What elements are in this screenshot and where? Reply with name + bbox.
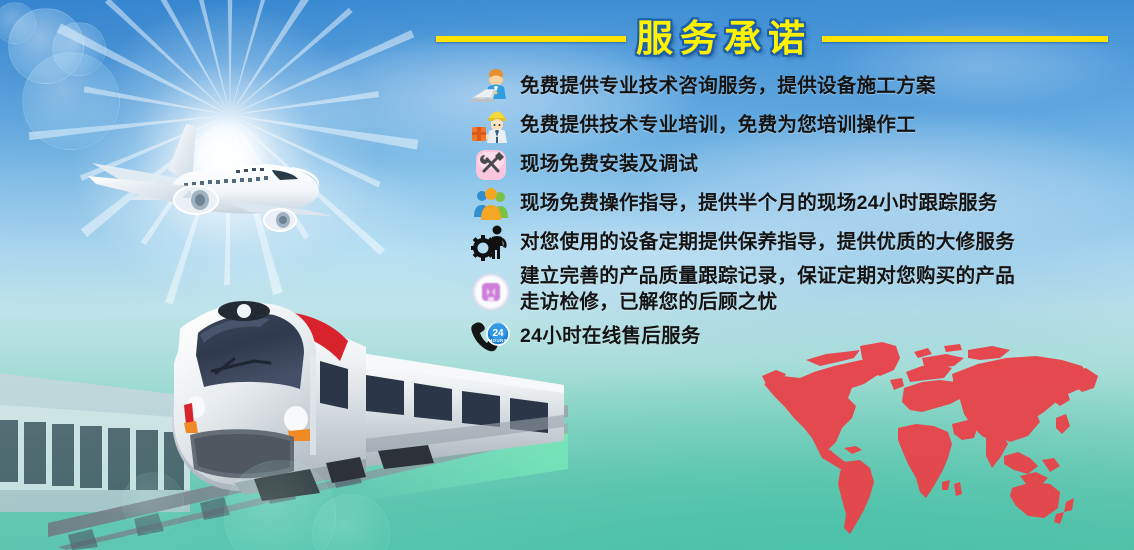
service-item: 免费提供技术专业培训，免费为您培训操作工 [470,107,1130,145]
service-item-text: 对您使用的设备定期提供保养指导，提供优质的大修服务 [520,224,1015,256]
title-row: 服务承诺 [436,14,1108,64]
service-item: 免费提供专业技术咨询服务，提供设备施工方案 [470,68,1130,106]
service-item-text: 免费提供技术专业培训，免费为您培训操作工 [520,107,916,139]
service-item: 现场免费安装及调试 [470,146,1130,184]
service-item-text: 现场免费操作指导，提供半个月的现场24小时跟踪服务 [520,185,998,217]
service-item: 24 HOURS 24小时在线售后服务 [470,318,1130,356]
people-group-icon [470,185,512,223]
person-gear-icon [470,224,512,262]
service-commitment-banner: 服务承诺 [0,0,1134,550]
service-item: 建立完善的产品质量跟踪记录，保证定期对您购买的产品 走访检修，已解您的后顾之忧 [470,264,1130,316]
worker-hardhat-icon [470,107,512,145]
phone-badge-sub: HOURS [489,338,507,343]
content-overlay: 服务承诺 [0,0,1134,550]
service-item-text: 免费提供专业技术咨询服务，提供设备施工方案 [520,68,936,100]
service-item-text: 现场免费安装及调试 [520,146,698,178]
service-item-text: 24小时在线售后服务 [520,318,701,350]
purple-record-icon [470,271,512,309]
person-laptop-icon [470,68,512,106]
page-title: 服务承诺 [636,20,812,59]
service-list: 免费提供专业技术咨询服务，提供设备施工方案 [470,68,1130,359]
service-item: 现场免费操作指导，提供半个月的现场24小时跟踪服务 [470,185,1130,223]
phone-24hours-icon: 24 HOURS [470,318,512,356]
service-item-text: 建立完善的产品质量跟踪记录，保证定期对您购买的产品 走访检修，已解您的后顾之忧 [520,264,1015,316]
hammer-wrench-icon [470,146,512,184]
service-item-text-line2: 走访检修，已解您的后顾之忧 [520,290,1015,316]
title-rule-left [436,36,626,42]
service-item-text-line1: 建立完善的产品质量跟踪记录，保证定期对您购买的产品 [520,264,1015,290]
service-item: 对您使用的设备定期提供保养指导，提供优质的大修服务 [470,224,1130,262]
title-rule-right [822,36,1108,42]
